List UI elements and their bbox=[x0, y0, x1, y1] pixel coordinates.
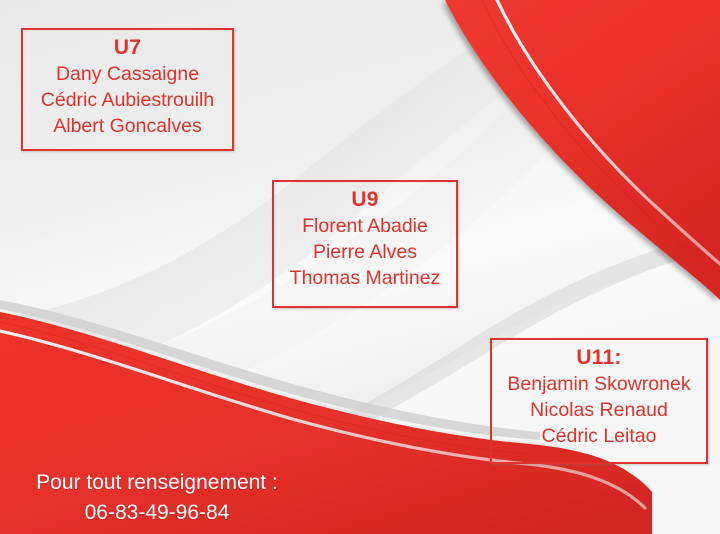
team-member: Pierre Alves bbox=[282, 239, 448, 265]
team-box-u9: U9 Florent Abadie Pierre Alves Thomas Ma… bbox=[272, 180, 458, 308]
team-box-u11: U11: Benjamin Skowronek Nicolas Renaud C… bbox=[490, 338, 708, 464]
team-title-u9: U9 bbox=[282, 186, 448, 213]
team-member: Cédric Aubiestrouilh bbox=[31, 87, 224, 113]
team-box-u7: U7 Dany Cassaigne Cédric Aubiestrouilh A… bbox=[21, 28, 234, 151]
team-member: Florent Abadie bbox=[282, 213, 448, 239]
team-member: Dany Cassaigne bbox=[31, 61, 224, 87]
team-member: Nicolas Renaud bbox=[500, 397, 698, 423]
team-member: Thomas Martinez bbox=[282, 265, 448, 291]
team-title-u7: U7 bbox=[31, 34, 224, 61]
team-member: Cédric Leitao bbox=[500, 423, 698, 449]
contact-block: Pour tout renseignement : 06-83-49-96-84 bbox=[12, 468, 302, 528]
contact-label: Pour tout renseignement : bbox=[12, 468, 302, 498]
team-title-u11: U11: bbox=[500, 344, 698, 371]
team-member: Albert Goncalves bbox=[31, 113, 224, 139]
slide-canvas: U7 Dany Cassaigne Cédric Aubiestrouilh A… bbox=[0, 0, 720, 534]
contact-phone: 06-83-49-96-84 bbox=[12, 498, 302, 528]
team-member: Benjamin Skowronek bbox=[500, 371, 698, 397]
